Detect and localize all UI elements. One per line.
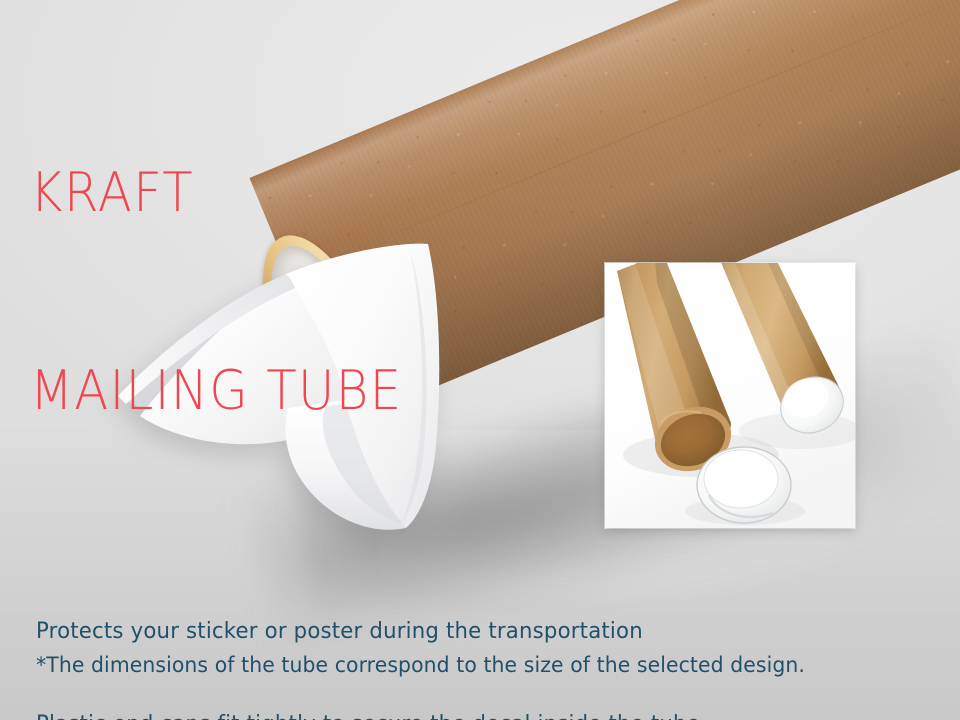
title-line-1: KRAFT [30,160,402,226]
page-title: KRAFT MAILING TUBE [30,28,402,556]
feature-line-2: Plastic end caps fit tightly to secure t… [36,709,700,720]
feature-line-1: Protects your sticker or poster during t… [36,616,700,647]
poster-canvas: KRAFT MAILING TUBE Protects your sticker… [0,0,960,720]
title-line-2: MAILING TUBE [30,358,402,424]
feature-description: Protects your sticker or poster during t… [36,554,700,720]
footnote-text: *The dimensions of the tube correspond t… [36,650,805,680]
inset-product-photo [605,263,855,528]
